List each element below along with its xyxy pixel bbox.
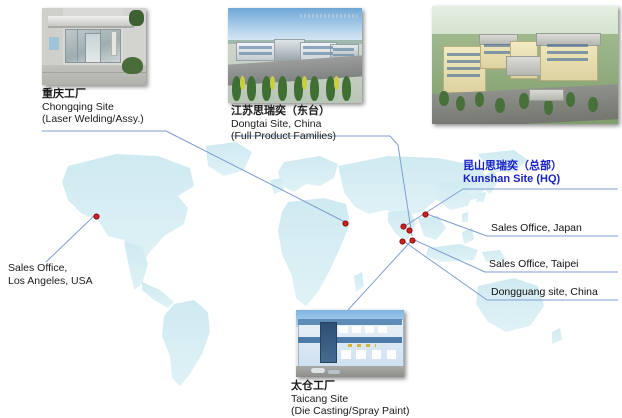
label-chongqing: 重庆工厂 Chongqing Site (Laser Welding/Assy.… [42, 88, 144, 126]
taicang-label-cn: 太仓工厂 [291, 380, 409, 393]
taicang-photo [296, 310, 404, 377]
taicang-label-en1: Taicang Site [291, 393, 409, 406]
taicang-label-en2: (Die Casting/Spray Paint) [291, 405, 409, 418]
label-dongguang-site: Dongguang site, China [491, 286, 598, 298]
los-angeles-label-en2: Los Angeles, USA [8, 275, 93, 288]
chongqing-label-cn: 重庆工厂 [42, 88, 144, 101]
label-taicang: 太仓工厂 Taicang Site (Die Casting/Spray Pai… [291, 380, 409, 418]
chongqing-label-en2: (Laser Welding/Assy.) [42, 113, 144, 126]
dongtai-label-en2: (Full Product Families) [231, 130, 336, 143]
label-sales-office-japan: Sales Office, Japan [491, 222, 582, 234]
label-kunshan-hq: 昆山思瑞奕（总部） Kunshan Site (HQ) [463, 160, 562, 185]
label-los-angeles: Sales Office, Los Angeles, USA [8, 262, 93, 287]
dongtai-label-en1: Dongtai Site, China [231, 118, 336, 131]
map-infographic: 重庆工厂 Chongqing Site (Laser Welding/Assy.… [0, 0, 622, 418]
label-sales-office-taipei: Sales Office, Taipei [489, 258, 579, 270]
kunshan-label-en1: Kunshan Site (HQ) [463, 173, 562, 186]
dongtai-label-cn: 江苏思瑞奕（东台） [231, 105, 336, 118]
chongqing-photo [42, 8, 146, 85]
los-angeles-label-en1: Sales Office, [8, 262, 93, 275]
label-dongtai: 江苏思瑞奕（东台） Dongtai Site, China (Full Prod… [231, 105, 336, 143]
chongqing-label-en1: Chongqing Site [42, 101, 144, 114]
kunshan-label-cn: 昆山思瑞奕（总部） [463, 160, 562, 173]
kunshan-photo [432, 6, 618, 124]
dongtai-photo [228, 8, 362, 103]
